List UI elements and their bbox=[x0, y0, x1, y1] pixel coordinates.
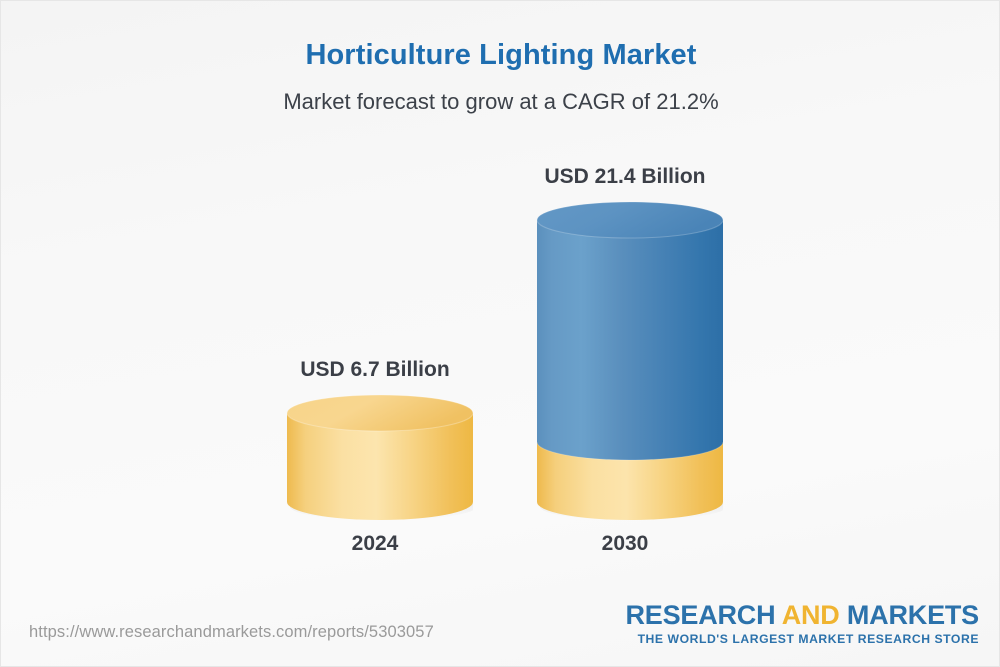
value-label-2030: USD 21.4 Billion bbox=[525, 165, 725, 189]
research-and-markets-logo[interactable]: RESEARCH AND MARKETS THE WORLD'S LARGEST… bbox=[625, 601, 979, 646]
value-label-2024: USD 6.7 Billion bbox=[275, 358, 475, 382]
bar-cylinder-2024 bbox=[287, 395, 473, 520]
logo-tagline: THE WORLD'S LARGEST MARKET RESEARCH STOR… bbox=[625, 632, 979, 646]
bar-cylinder-2030 bbox=[537, 202, 723, 520]
logo-word-markets: MARKETS bbox=[840, 600, 979, 630]
page-title: Horticulture Lighting Market bbox=[1, 39, 1000, 72]
infographic-canvas: Horticulture Lighting Market Market fore… bbox=[0, 0, 1000, 667]
page-subtitle: Market forecast to grow at a CAGR of 21.… bbox=[1, 89, 1000, 115]
category-label-2030: 2030 bbox=[525, 532, 725, 556]
logo-word-and: AND bbox=[782, 600, 840, 630]
logo-word-research: RESEARCH bbox=[625, 600, 781, 630]
report-url[interactable]: https://www.researchandmarkets.com/repor… bbox=[29, 623, 434, 642]
logo-wordmark: RESEARCH AND MARKETS bbox=[625, 601, 979, 629]
category-label-2024: 2024 bbox=[275, 532, 475, 556]
